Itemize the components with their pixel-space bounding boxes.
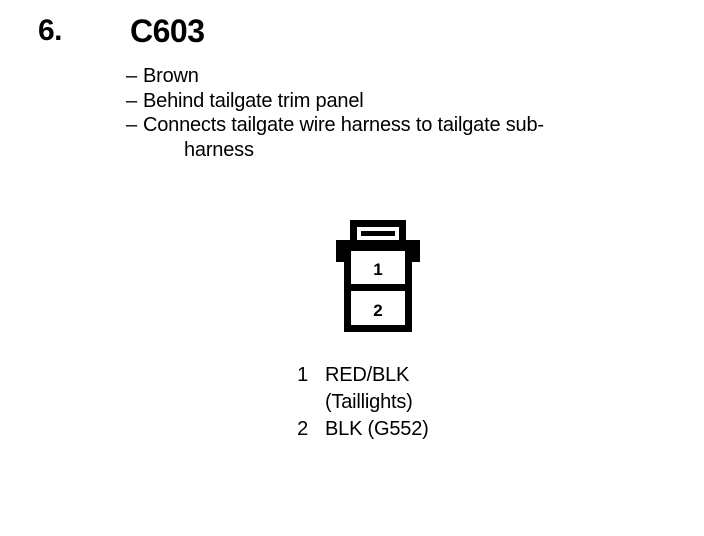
bullet-dash-icon: – [126, 89, 143, 114]
connector-cavity-divider-icon [344, 284, 412, 291]
pin-legend-table: 1 RED/BLK (Taillights) 2 BLK (G552) [258, 362, 558, 443]
connector-description: –Brown –Behind tailgate trim panel –Conn… [126, 64, 686, 162]
description-line: –Brown [126, 64, 686, 89]
connector-latch-slot-icon [361, 231, 395, 236]
cavity-number-2: 2 [373, 301, 382, 320]
connector-diagram: 1 2 [330, 214, 426, 336]
pin-legend-wire: RED/BLK [325, 362, 409, 389]
pin-legend-row: 2 BLK (G552) [258, 416, 558, 443]
description-continuation: harness [126, 138, 686, 163]
page-header: 6. C603 [0, 12, 704, 56]
bullet-dash-icon: – [126, 113, 143, 138]
pin-legend-wire: BLK (G552) [325, 416, 429, 443]
description-line: –Connects tailgate wire harness to tailg… [126, 113, 686, 138]
description-line: –Behind tailgate trim panel [126, 89, 686, 114]
description-text: Brown [143, 65, 199, 87]
item-number: 6. [38, 12, 62, 50]
cavity-number-1: 1 [373, 260, 382, 279]
pin-legend-row: 1 RED/BLK [258, 362, 558, 389]
pin-legend-wire-detail: (Taillights) [325, 389, 413, 416]
connector-id-title: C603 [130, 12, 205, 50]
description-text: Connects tailgate wire harness to tailga… [143, 114, 544, 136]
pin-legend-number: 2 [258, 416, 308, 443]
description-text: Behind tailgate trim panel [143, 90, 364, 112]
bullet-dash-icon: – [126, 64, 143, 89]
pin-legend-number: 1 [258, 362, 308, 389]
pin-legend-row-detail: (Taillights) [258, 389, 558, 416]
